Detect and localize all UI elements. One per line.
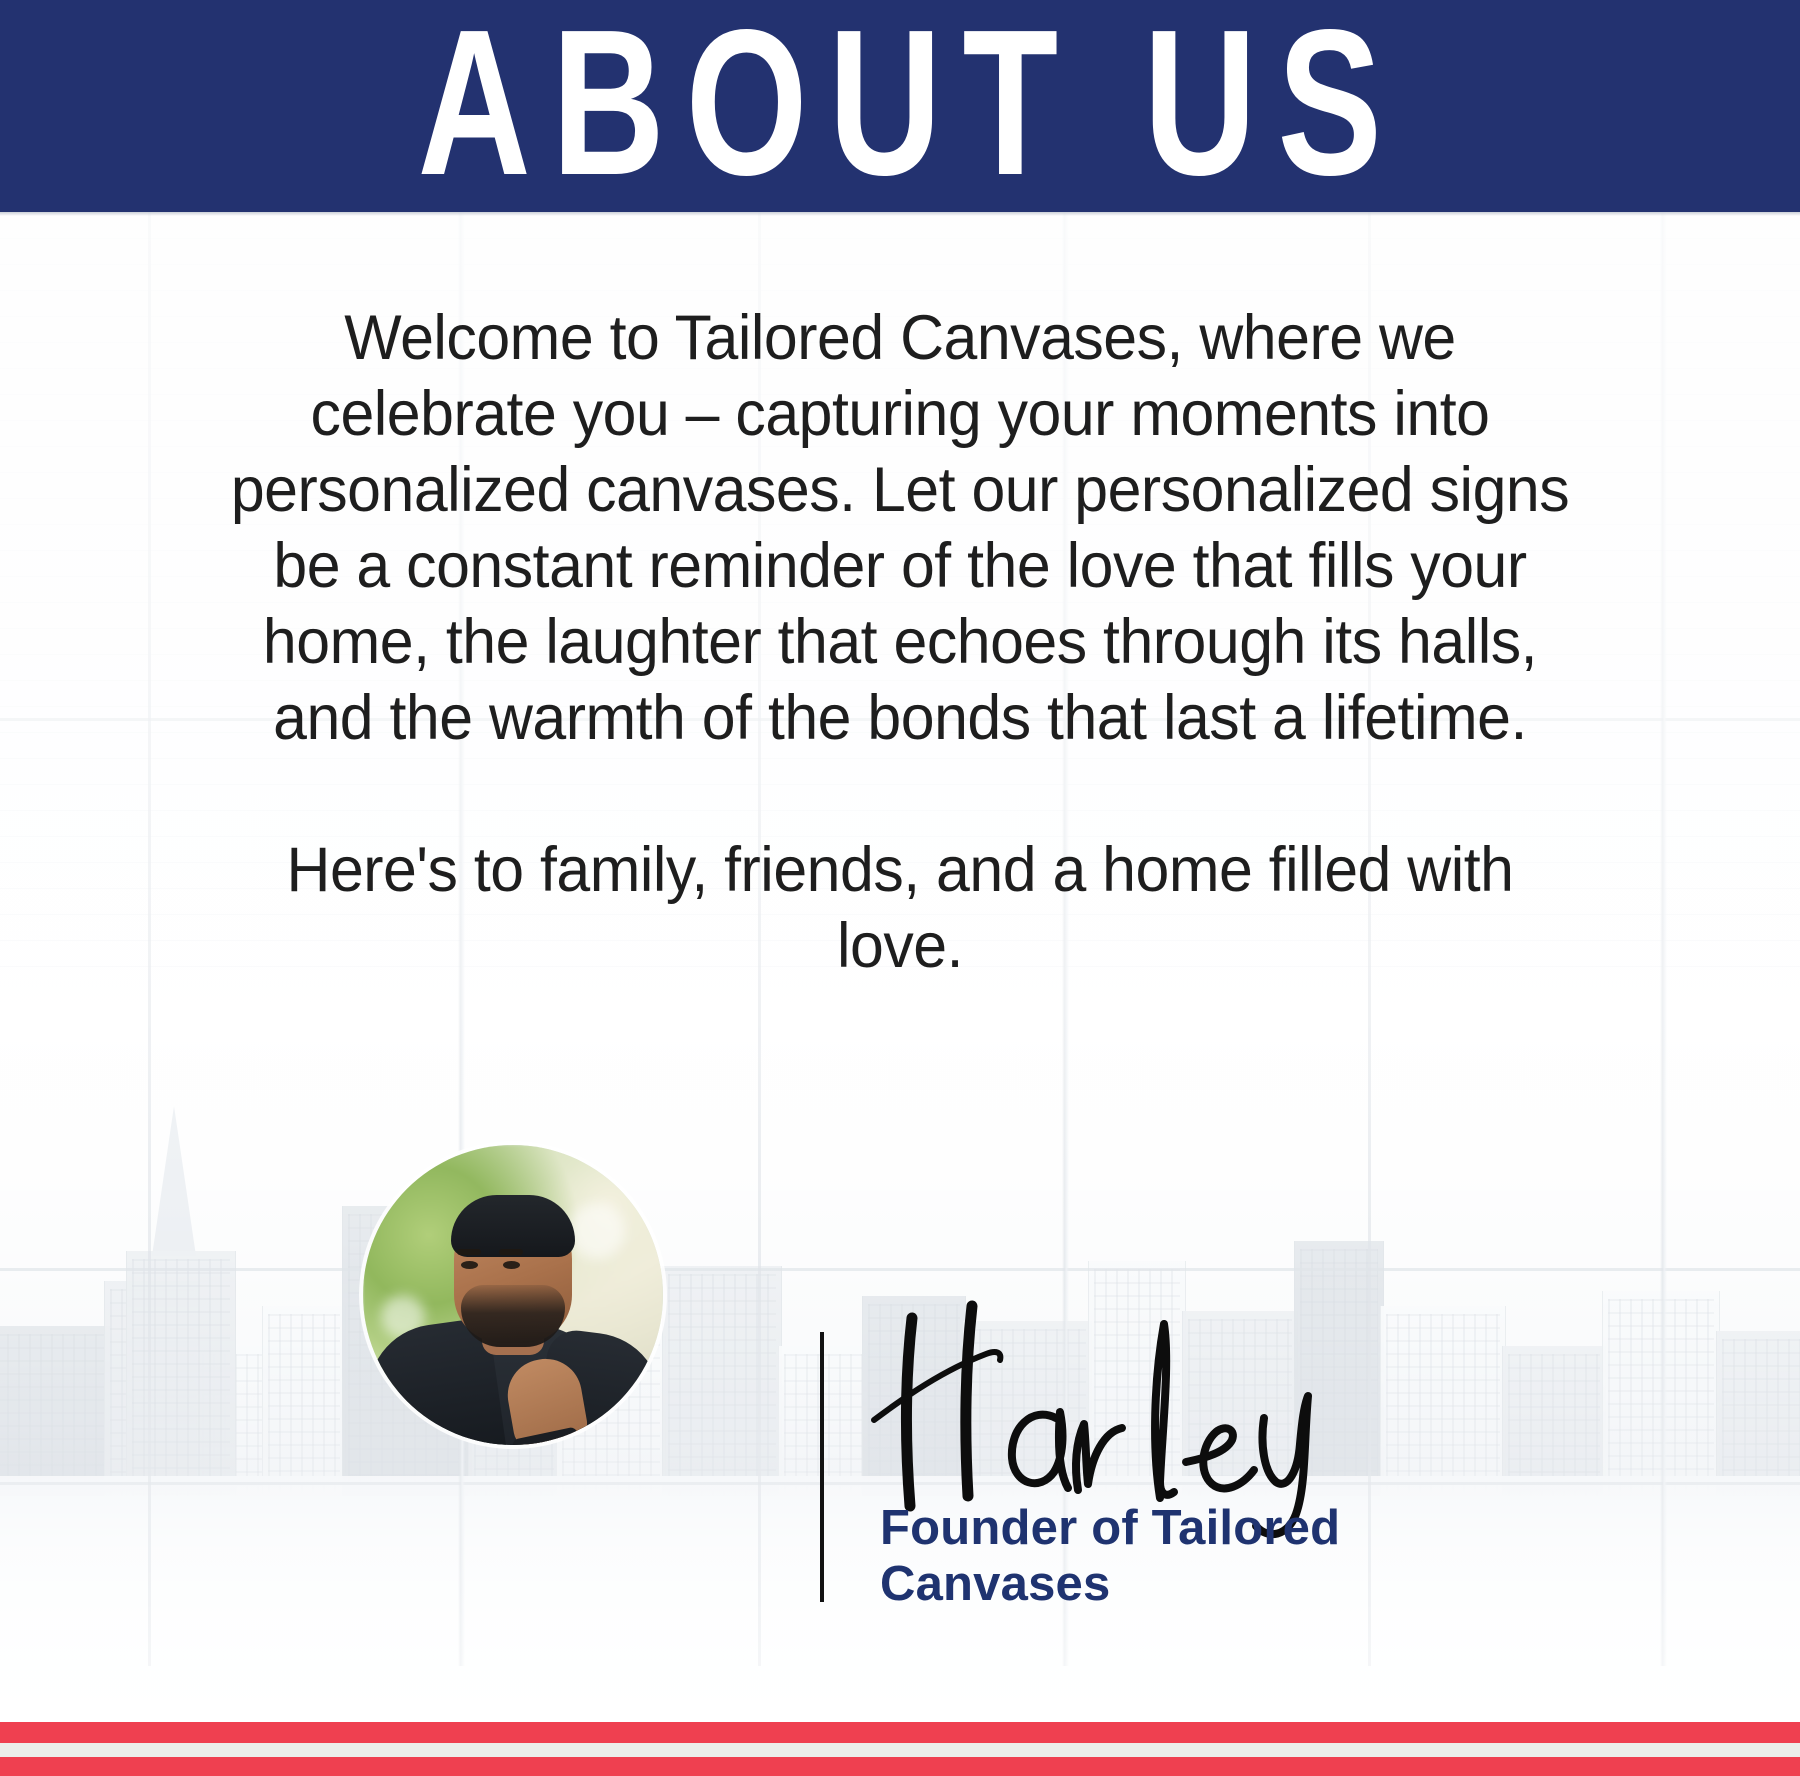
footer-bar-bottom — [0, 1757, 1800, 1776]
founder-title-line-1: Founder of Tailored — [880, 1500, 1440, 1556]
about-us-body: Welcome to Tailored Canvases, where we c… — [220, 300, 1581, 984]
footer-bar-gap — [0, 1743, 1800, 1757]
avatar-hair — [451, 1195, 575, 1257]
page-title: ABOUT US — [397, 0, 1403, 207]
bokeh-light — [569, 1203, 625, 1259]
about-paragraph-2: Here's to family, friends, and a home fi… — [220, 832, 1581, 984]
header-underline — [0, 212, 1800, 216]
header-banner: ABOUT US — [0, 0, 1800, 212]
avatar-eyebrow-left — [457, 1249, 481, 1255]
avatar-eye-left — [461, 1261, 478, 1269]
founder-title-line-2: Canvases — [880, 1556, 1440, 1612]
signature-harley — [860, 1300, 1380, 1530]
avatar — [363, 1145, 663, 1445]
signature-divider — [820, 1332, 824, 1602]
avatar-beard — [461, 1285, 565, 1347]
about-paragraph-1: Welcome to Tailored Canvases, where we c… — [220, 300, 1581, 756]
footer-bar-top — [0, 1722, 1800, 1743]
founder-title: Founder of Tailored Canvases — [880, 1500, 1440, 1612]
avatar-eyebrow-right — [499, 1249, 523, 1255]
avatar-eye-right — [503, 1261, 520, 1269]
about-us-page: ABOUT US Welcome to Tailored Canvases, w… — [0, 0, 1800, 1776]
